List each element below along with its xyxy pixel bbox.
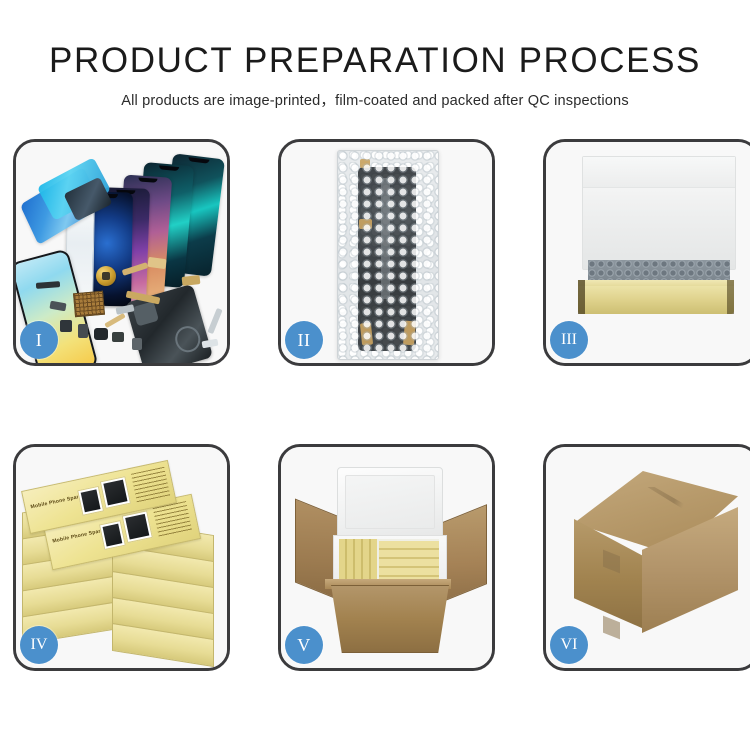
step-badge-4: IV: [20, 626, 58, 664]
inner-boxes-group-right: [379, 541, 439, 581]
tape-tab-3: [360, 322, 373, 345]
process-step-panel-2: II: [278, 139, 495, 366]
foam-lid-fold: [583, 157, 735, 188]
lid-window-screen-1: [103, 524, 123, 547]
small-part-9: [132, 338, 142, 350]
inner-boxes-in-carton: [339, 539, 439, 581]
small-part-5: [112, 332, 124, 342]
box-corner-right: [727, 280, 734, 314]
flex-cable-3: [104, 313, 126, 328]
small-part-3: [78, 324, 88, 338]
step-badge-1: I: [20, 321, 58, 359]
lid-spec-lines-upper: [131, 467, 170, 503]
carton-tape-patch-2: [603, 616, 620, 640]
small-part-2: [60, 320, 72, 332]
step-badge-6: VI: [550, 626, 588, 664]
step-badge-5: V: [285, 626, 323, 664]
small-part-12: [182, 275, 201, 286]
box-corner-left: [578, 280, 585, 314]
process-step-panel-6: VI: [543, 444, 750, 671]
inner-boxes-group-left: [339, 539, 377, 581]
lid-window-1: [99, 520, 126, 550]
foam-liner-lid: [337, 467, 443, 539]
process-step-panel-1: I: [13, 139, 230, 366]
lid-window-4: [100, 476, 131, 509]
notch-shape: [159, 165, 179, 171]
step-badge-3: III: [550, 321, 588, 359]
lid-window-screen-3: [81, 489, 101, 512]
lid-window-3: [77, 486, 104, 516]
notch-shape: [138, 177, 157, 182]
process-step-panel-3: III: [543, 139, 750, 366]
small-part-10: [207, 308, 222, 334]
tape-tab-2: [359, 219, 372, 229]
process-step-grid: I II: [13, 139, 737, 689]
process-step-panel-4: Mobile Phone Spare Parts Mobile Phone Sp…: [13, 444, 230, 671]
page-subtitle: All products are image-printed，film-coat…: [0, 80, 750, 110]
lid-window-screen-2: [125, 514, 149, 540]
lid-window-2: [122, 510, 153, 543]
lid-window-screen-4: [103, 480, 127, 506]
notch-shape: [188, 157, 209, 164]
bubble-wrap-bag: [337, 150, 439, 360]
tape-tab-1: [360, 159, 370, 168]
page-title: PRODUCT PREPARATION PROCESS: [0, 0, 750, 80]
small-part-4: [94, 328, 108, 340]
page-header: PRODUCT PREPARATION PROCESS All products…: [0, 0, 750, 110]
white-foam-lid: [582, 156, 736, 270]
gold-coil-part: [96, 266, 116, 286]
chip-grid-part: [73, 291, 105, 318]
yellow-box-front: [578, 286, 734, 314]
tape-tab-4: [403, 321, 416, 346]
process-step-panel-5: V: [278, 444, 495, 671]
step-badge-2: II: [285, 321, 323, 359]
carton-front-panel: [323, 585, 457, 653]
small-part-11: [202, 339, 219, 349]
